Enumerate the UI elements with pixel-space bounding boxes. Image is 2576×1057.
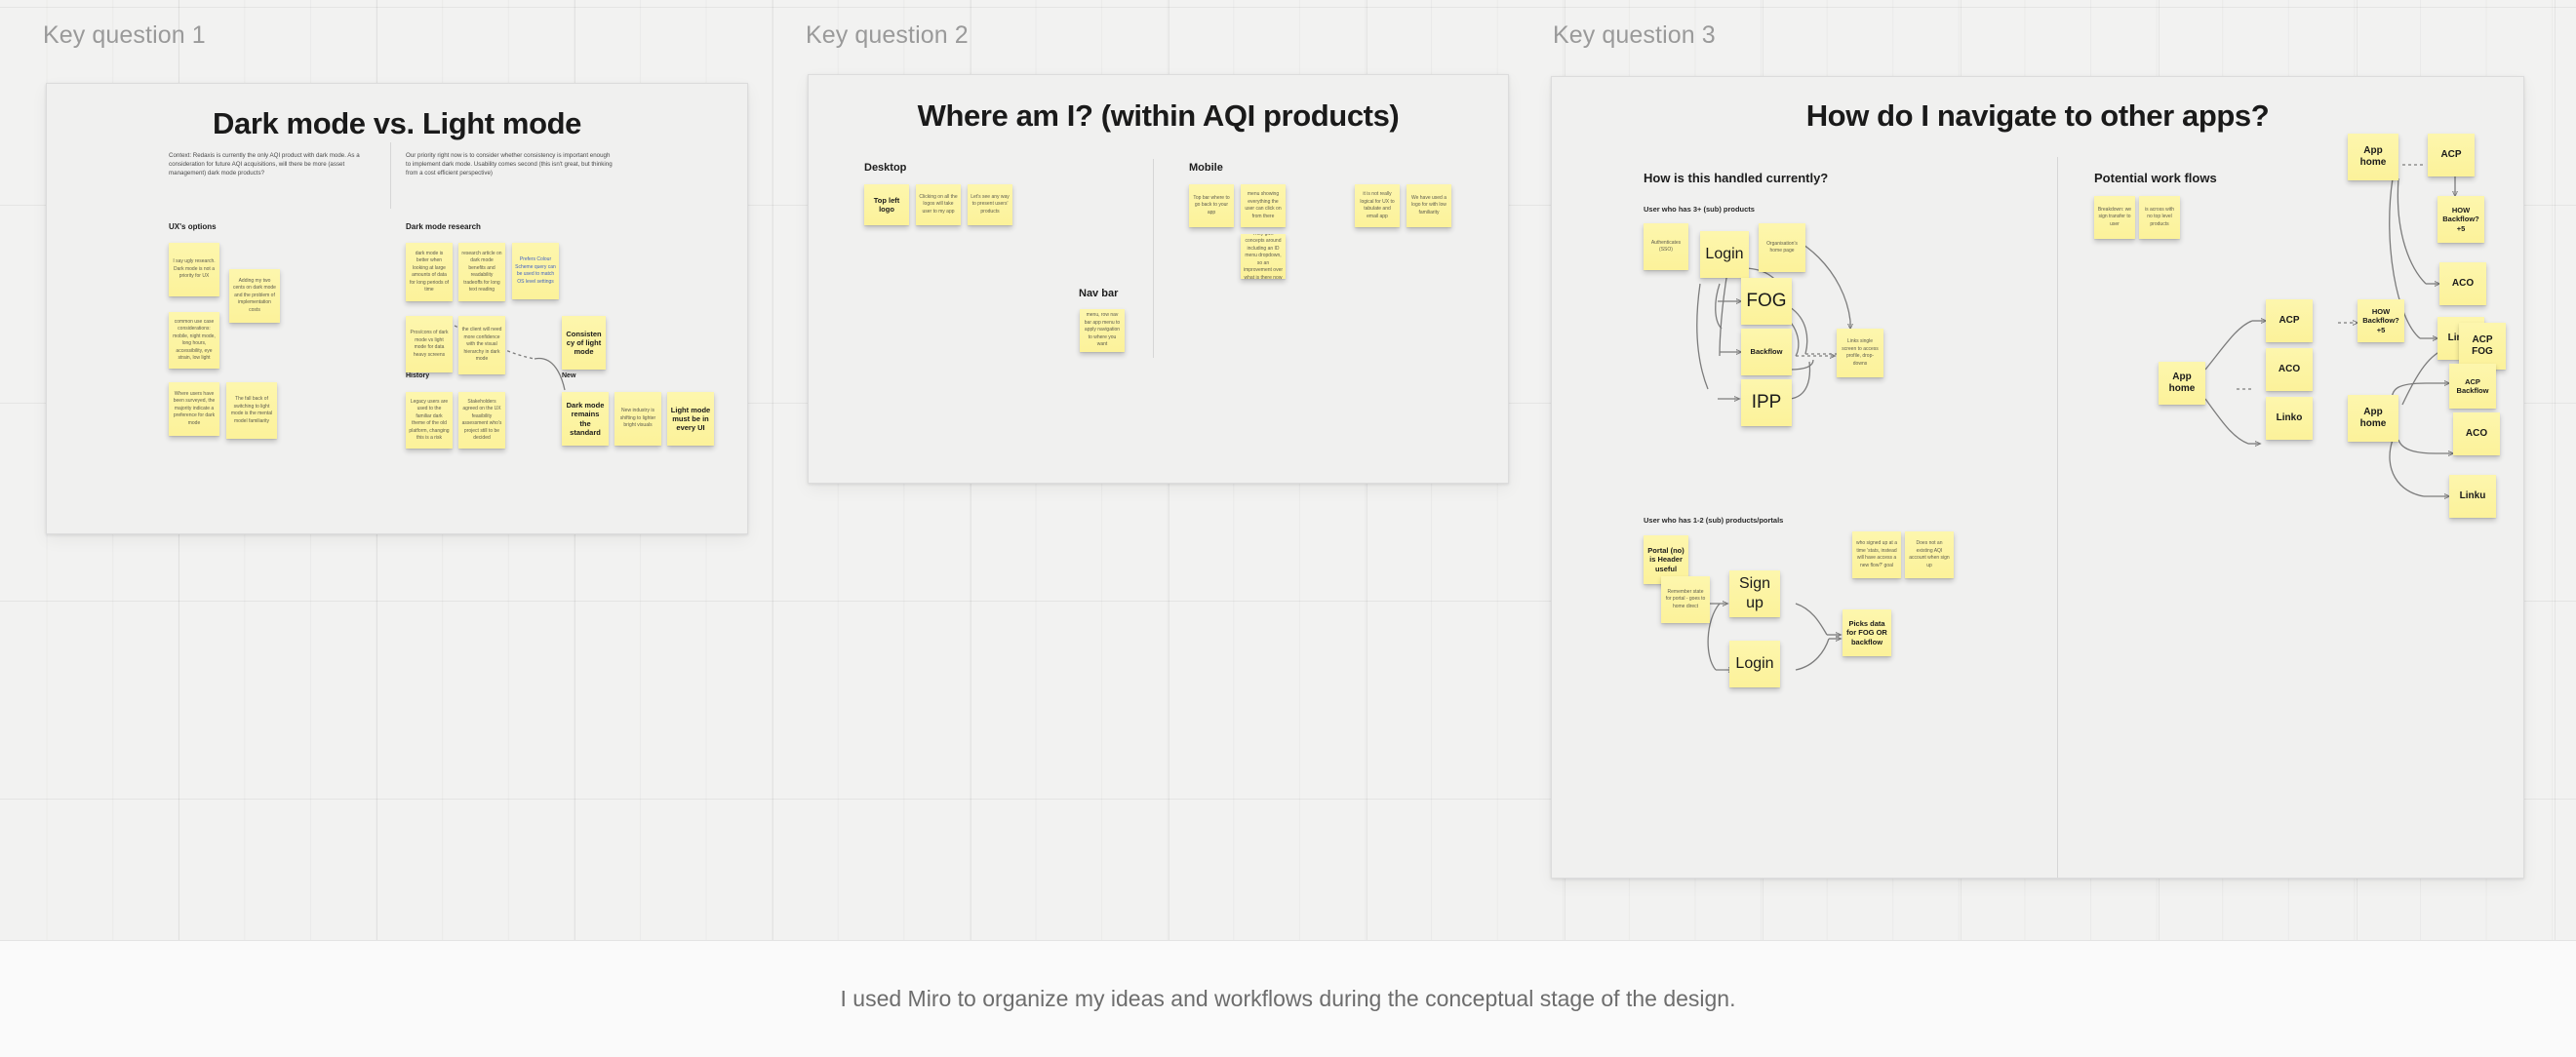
note[interactable]: Login <box>1729 641 1780 687</box>
board-2-title: Where am I? (within AQI products) <box>809 98 1508 134</box>
note[interactable]: Pros/cons of dark mode vs light mode for… <box>406 316 453 372</box>
board-2-section-mobile: Mobile <box>1189 162 1223 174</box>
board-2-section-desktop: Desktop <box>864 162 906 174</box>
board-1-intro-left: Context: Redaxis is currently the only A… <box>169 152 378 178</box>
note[interactable]: Consistency of light mode <box>562 316 606 370</box>
note[interactable]: IPP <box>1741 379 1792 426</box>
note[interactable]: We have used a logo for with low familia… <box>1407 184 1451 227</box>
note[interactable]: menu showing everything the user can cli… <box>1241 184 1286 227</box>
note[interactable]: Legacy users are used to the familiar da… <box>406 392 453 449</box>
note[interactable]: Dark mode remains the standard <box>562 392 609 446</box>
note[interactable]: ACO <box>2453 412 2500 455</box>
note[interactable]: Sign up <box>1729 570 1780 617</box>
board-1-section-history: History <box>406 372 429 379</box>
note[interactable]: Where users have been surveyed, the majo… <box>169 382 219 436</box>
board-2-divider <box>1153 159 1154 358</box>
board-2-section-navbar: Nav bar <box>1079 288 1118 299</box>
note[interactable]: common use case considerations: mobile, … <box>169 312 219 369</box>
note[interactable]: Top left logo <box>864 184 909 225</box>
board-3-divider <box>2057 157 2058 879</box>
note[interactable]: Stakeholders agreed on the UX feasibilit… <box>458 392 505 449</box>
board-1-section-research: Dark mode research <box>406 222 481 231</box>
board-3-section-current: How is this handled currently? <box>1644 171 1828 185</box>
note[interactable]: ACP Backflow <box>2449 364 2496 409</box>
note[interactable]: Clicking on all the logos will take user… <box>916 184 961 225</box>
board-3-section-potential: Potential work flows <box>2094 171 2217 185</box>
note[interactable]: Links single screen to access profile, d… <box>1837 329 1883 377</box>
key-question-1-label: Key question 1 <box>43 21 206 50</box>
note[interactable]: Picks data for FOG OR backflow <box>1843 609 1891 656</box>
frame-how-do-i-navigate[interactable]: How do I navigate to other apps? How is … <box>1551 76 2524 879</box>
note[interactable]: FOG <box>1741 278 1792 325</box>
note[interactable]: App home <box>2159 362 2205 405</box>
note[interactable]: I say ugly research. Dark mode is not a … <box>169 243 219 296</box>
note[interactable]: HOW Backflow? +5 <box>2358 299 2404 342</box>
frame-dark-mode-vs-light-mode[interactable]: Dark mode vs. Light mode Context: Redaxi… <box>46 83 748 534</box>
note[interactable]: Light mode must be in every UI <box>667 392 714 446</box>
note[interactable]: New industry is shifting to lighter brig… <box>614 392 661 446</box>
note[interactable]: Organisation's home page <box>1759 223 1805 272</box>
note[interactable]: ACP <box>2428 134 2475 176</box>
note[interactable]: menu, row nav bar app menu to apply navi… <box>1080 309 1125 352</box>
note[interactable]: the client will need more confidence wit… <box>458 316 505 374</box>
board-1-section-ux-options: UX's options <box>169 222 217 231</box>
board-1-intro-right: Our priority right now is to consider wh… <box>406 152 615 178</box>
note[interactable]: They give concepts around including an I… <box>1241 234 1286 279</box>
note[interactable]: Backflow <box>1741 329 1792 375</box>
caption-bar: I used Miro to organize my ideas and wor… <box>0 940 2576 1057</box>
note[interactable]: Prefers Colour Scheme query can be used … <box>512 243 559 299</box>
note[interactable]: Does not an existing AQI account when si… <box>1905 531 1954 578</box>
key-question-2-label: Key question 2 <box>806 21 969 50</box>
note[interactable]: Linko <box>2266 397 2313 440</box>
note[interactable]: Linku <box>2449 475 2496 518</box>
miro-canvas[interactable]: Key question 1 Key question 2 Key questi… <box>0 0 2576 1057</box>
note[interactable]: App home <box>2348 134 2398 180</box>
board-3-sub-3plus: User who has 3+ (sub) products <box>1644 205 1755 214</box>
board-3-title: How do I navigate to other apps? <box>1552 98 2523 134</box>
note[interactable]: dark mode is better when looking at larg… <box>406 243 453 301</box>
note[interactable]: ACO <box>2266 348 2313 391</box>
key-question-3-label: Key question 3 <box>1553 21 1716 50</box>
board-3-sub-1to2: User who has 1-2 (sub) products/portals <box>1644 516 1783 525</box>
frame-where-am-i[interactable]: Where am I? (within AQI products) Deskto… <box>808 74 1509 484</box>
note[interactable]: it is not really logical for UX to tabul… <box>1355 184 1400 227</box>
note[interactable]: Let's see any way to present users' prod… <box>968 184 1012 225</box>
note[interactable]: ACO <box>2439 262 2486 305</box>
note[interactable]: Breakdown: we sign transfer to user <box>2094 196 2135 239</box>
note[interactable]: The fall back of switching to light mode… <box>226 382 277 439</box>
note[interactable]: App home <box>2348 395 2398 442</box>
caption-text: I used Miro to organize my ideas and wor… <box>841 986 1736 1012</box>
board-1-divider <box>390 142 391 209</box>
note[interactable]: HOW Backflow? +5 <box>2437 196 2484 243</box>
note[interactable]: who signed up at a time 'stats, instead … <box>1852 531 1901 578</box>
board-1-title: Dark mode vs. Light mode <box>47 106 747 141</box>
note[interactable]: Login <box>1700 231 1749 278</box>
note[interactable]: Adding my two cents on dark mode and the… <box>229 269 280 323</box>
note[interactable]: Top bar where to go back to your app <box>1189 184 1234 227</box>
note[interactable]: Authenticates (SSO) <box>1644 223 1688 270</box>
note[interactable]: is across with no top level products <box>2139 196 2180 239</box>
note[interactable]: ACP <box>2266 299 2313 342</box>
board-1-section-new: New <box>562 372 575 379</box>
note[interactable]: research article on dark mode benefits a… <box>458 243 505 301</box>
note[interactable]: Remember state for portal - goes to home… <box>1661 576 1710 623</box>
note[interactable]: ACP FOG <box>2459 323 2506 370</box>
